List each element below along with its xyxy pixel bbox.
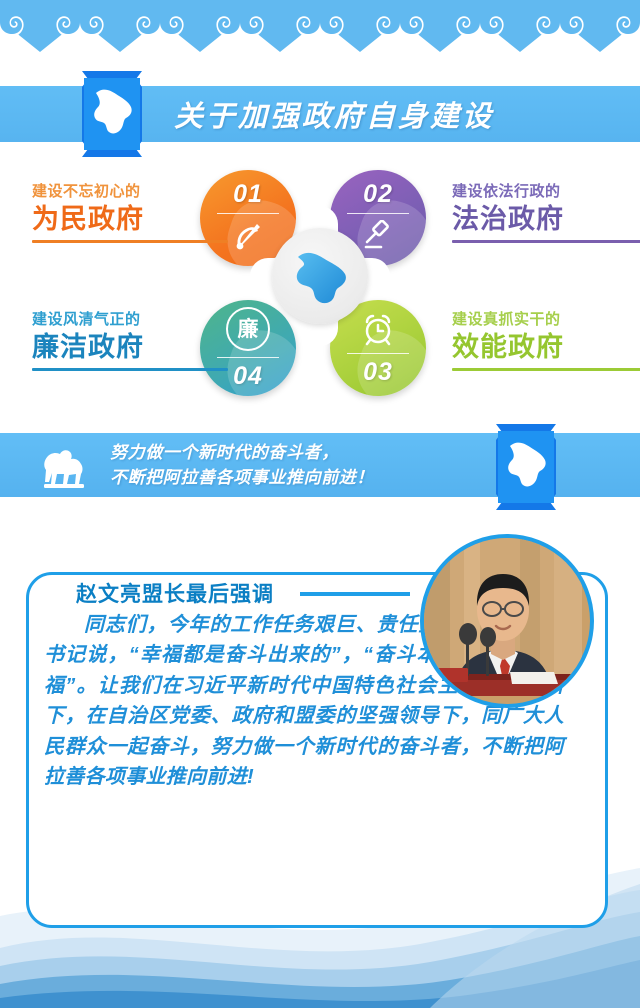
- pillar-title: 法治政府: [452, 204, 640, 235]
- slogan-text: 努力做一个新时代的奋斗者， 不断把阿拉善各项事业推向前进！: [110, 440, 374, 491]
- slogan-line-2: 不断把阿拉善各项事业推向前进！: [110, 465, 374, 491]
- underline: [32, 240, 228, 243]
- pillar-label-02: 建设依法行政的 法治政府: [452, 184, 640, 243]
- integrity-lian-icon: 廉: [226, 307, 270, 351]
- pillar-number: 04: [233, 364, 263, 389]
- slogan-map-badge: [490, 424, 562, 510]
- pillar-title: 廉洁政府: [32, 332, 228, 363]
- alxa-map-icon: [76, 71, 148, 157]
- hammer-sickle-icon: [231, 220, 265, 254]
- four-pillars-section: 01 02: [0, 160, 640, 422]
- speaker-portrait: [420, 534, 594, 708]
- alxa-map-icon: [286, 247, 354, 305]
- underline: [452, 368, 640, 371]
- center-map-medallion: [272, 228, 368, 324]
- pillar-label-03: 建设真抓实干的 效能政府: [452, 312, 640, 371]
- gavel-icon: [361, 220, 395, 254]
- quote-title-dash: [300, 592, 410, 596]
- quote-title: 赵文亮盟长最后强调: [68, 578, 282, 608]
- pillar-label-04: 建设风清气正的 廉洁政府: [32, 312, 228, 371]
- pillar-caption: 建设真抓实干的: [452, 312, 640, 329]
- mongolian-cloud-pattern-icon: [0, 10, 640, 52]
- underline: [32, 368, 228, 371]
- slogan-line-1: 努力做一个新时代的奋斗者，: [110, 440, 374, 466]
- pillar-number: 01: [233, 182, 263, 207]
- header-top-rule: [0, 0, 640, 10]
- underline: [452, 240, 640, 243]
- alarm-clock-icon: [359, 311, 397, 347]
- divider: [347, 213, 409, 214]
- pillar-caption: 建设不忘初心的: [32, 184, 228, 201]
- pillar-caption: 建设依法行政的: [452, 184, 640, 201]
- pillar-label-01: 建设不忘初心的 为民政府: [32, 184, 228, 243]
- title-banner-content: 关于加强政府自身建设: [0, 88, 640, 140]
- infographic-page: 关于加强政府自身建设 01 0: [0, 0, 640, 1008]
- pillar-title: 效能政府: [452, 332, 640, 363]
- page-title: 关于加强政府自身建设: [174, 93, 494, 135]
- pillar-number: 02: [363, 182, 393, 207]
- pillar-number: 03: [363, 360, 393, 385]
- pillar-title: 为民政府: [32, 204, 228, 235]
- pillar-caption: 建设风清气正的: [32, 312, 228, 329]
- camel-icon: [38, 440, 94, 490]
- divider: [347, 353, 409, 354]
